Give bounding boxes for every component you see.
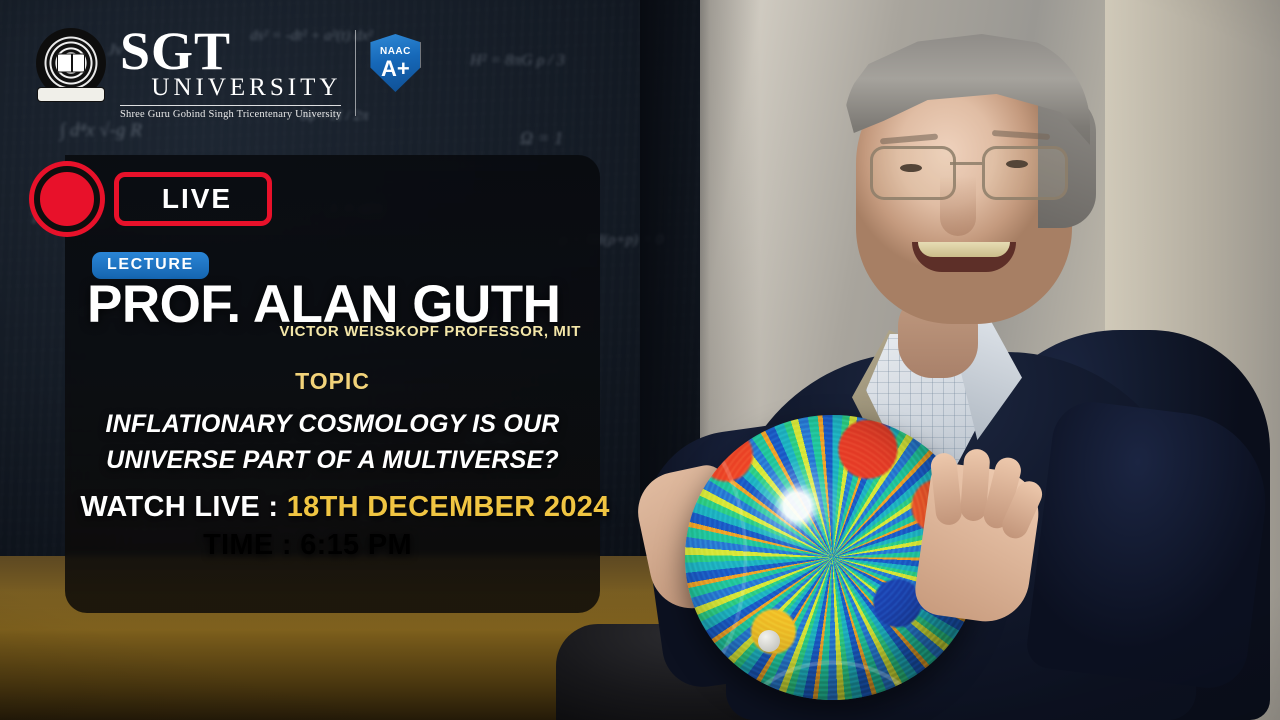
watch-live-label: WATCH LIVE : xyxy=(80,491,286,523)
ball-valve xyxy=(758,630,780,652)
brand-name-university: UNIVERSITY xyxy=(120,75,341,100)
record-dot-icon xyxy=(34,166,100,232)
seal-ribbon xyxy=(38,88,104,101)
university-seal-icon xyxy=(36,28,106,98)
nose xyxy=(940,176,976,236)
naac-body-label: NAAC xyxy=(380,47,411,57)
brand-wordmark: SGT UNIVERSITY Shree Guru Gobind Singh T… xyxy=(120,26,341,120)
topic-line-1: INFLATIONARY COSMOLOGY IS OUR xyxy=(85,407,580,443)
smile xyxy=(912,242,1016,272)
speaker-title: VICTOR WEISSKOPF PROFESSOR, MIT xyxy=(65,323,581,340)
time-value: 6:15 PM xyxy=(300,529,412,561)
chalk-note: Ω = 1 xyxy=(520,128,563,149)
brand-name-short: SGT xyxy=(120,26,341,77)
time-row: TIME : 6:15 PM xyxy=(65,529,550,562)
naac-shield-icon: NAAC A+ xyxy=(370,34,420,92)
brand-divider xyxy=(120,105,341,106)
logo-vertical-divider xyxy=(355,30,356,116)
topic-text: INFLATIONARY COSMOLOGY IS OUR UNIVERSE P… xyxy=(85,407,580,478)
teeth xyxy=(918,242,1010,257)
topic-line-2: UNIVERSE PART OF A MULTIVERSE? xyxy=(85,443,580,479)
chalk-note: H² = 8πG ρ / 3 xyxy=(470,52,565,70)
sgt-university-logo: SGT UNIVERSITY Shree Guru Gobind Singh T… xyxy=(36,26,420,120)
watch-live-row: WATCH LIVE : 18TH DECEMBER 2024 xyxy=(65,489,625,526)
time-label: TIME : xyxy=(203,529,300,561)
live-stream-frame: ∂μ Fμν = Jν ds² = -dt² + a²(t) dx² H² = … xyxy=(0,0,1280,720)
open-book-icon xyxy=(57,54,85,73)
live-label: LIVE xyxy=(162,185,232,213)
live-label-box: LIVE xyxy=(114,172,272,226)
speaker-photo xyxy=(640,0,1280,720)
brand-tagline: Shree Guru Gobind Singh Tricentenary Uni… xyxy=(120,109,341,120)
chalk-note: ∫ d⁴x √-g R xyxy=(60,120,142,142)
arm-right xyxy=(1024,398,1275,693)
watch-live-date: 18TH DECEMBER 2024 xyxy=(287,491,610,523)
topic-label: TOPIC xyxy=(65,368,600,395)
live-badge: LIVE xyxy=(34,166,272,232)
glasses-bridge xyxy=(950,162,982,165)
naac-grade-label: A+ xyxy=(381,58,410,80)
lens-right xyxy=(982,146,1068,200)
category-badge-label: LECTURE xyxy=(107,256,194,273)
